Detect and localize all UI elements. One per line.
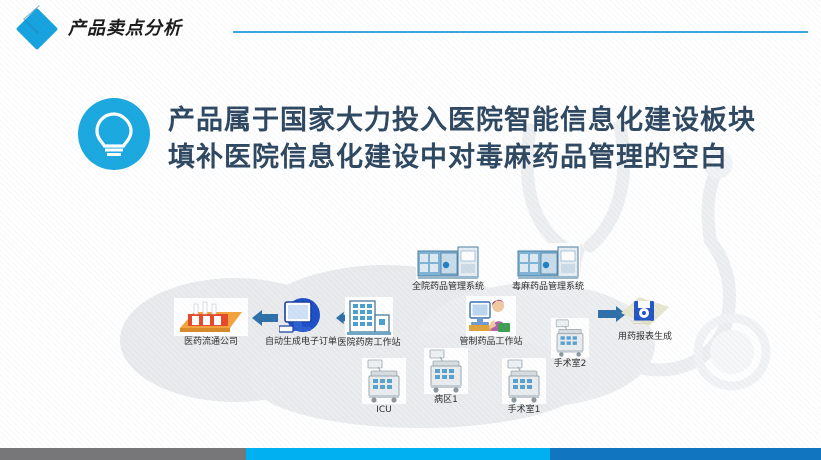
node-auto-order[interactable]: 自动生成电子订单 (262, 296, 340, 348)
medicine-cart-icon (551, 318, 589, 358)
node-narcotic-drug-system[interactable]: 毒麻药品管理系统 (508, 243, 588, 293)
node-icu-label: ICU (356, 405, 412, 416)
node-operating-room-2-label: 手术室2 (550, 359, 590, 370)
node-report-generation-label: 用药报表生成 (610, 332, 680, 343)
node-hospital-drug-system[interactable]: 全院药品管理系统 (408, 243, 488, 293)
node-icu[interactable]: ICU (356, 358, 412, 416)
node-auto-order-label: 自动生成电子订单 (262, 337, 340, 348)
nurse-at-computer-icon (466, 296, 516, 336)
workflow-diagram: 医药流通公司 自动生成电子订单 (0, 0, 821, 460)
node-controlled-station-label: 管制药品工作站 (452, 337, 530, 348)
bottom-bar-segment-cyan (246, 448, 550, 460)
node-operating-room-2[interactable]: 手术室2 (550, 318, 590, 370)
medicine-cart-icon (362, 358, 406, 404)
floppy-disk-icon (617, 293, 673, 331)
node-ward-1[interactable]: 病区1 (418, 348, 474, 406)
node-narcotic-drug-system-label: 毒麻药品管理系统 (508, 282, 588, 293)
node-distributor[interactable]: 医药流通公司 (166, 298, 256, 348)
slide-canvas: 产品卖点分析 产品属于国家大力投入医院智能信息化建设板块 填补医院信息化建设中对… (0, 0, 821, 460)
bottom-bar-segment-blue (550, 448, 821, 460)
node-report-generation[interactable]: 用药报表生成 (610, 293, 680, 343)
hospital-building-icon (345, 297, 393, 337)
medicine-cart-icon (424, 348, 468, 394)
node-ward-1-label: 病区1 (418, 395, 474, 406)
node-hospital-drug-system-label: 全院药品管理系统 (408, 282, 488, 293)
node-distributor-label: 医药流通公司 (166, 337, 256, 348)
medicine-cart-icon (502, 358, 546, 404)
bottom-bar-segment-grey (0, 448, 246, 460)
drug-cabinet-icon (416, 243, 480, 281)
desktop-computer-icon (279, 296, 323, 336)
node-pharmacy-station[interactable]: 医院药房工作站 (332, 297, 406, 349)
medicine-crate-icon (174, 298, 248, 336)
node-controlled-station[interactable]: 管制药品工作站 (452, 296, 530, 348)
drug-cabinet-icon (516, 243, 580, 281)
node-operating-room-1-label: 手术室1 (496, 405, 552, 416)
bottom-color-bar (0, 448, 821, 460)
node-operating-room-1[interactable]: 手术室1 (496, 358, 552, 416)
node-pharmacy-station-label: 医院药房工作站 (332, 338, 406, 349)
